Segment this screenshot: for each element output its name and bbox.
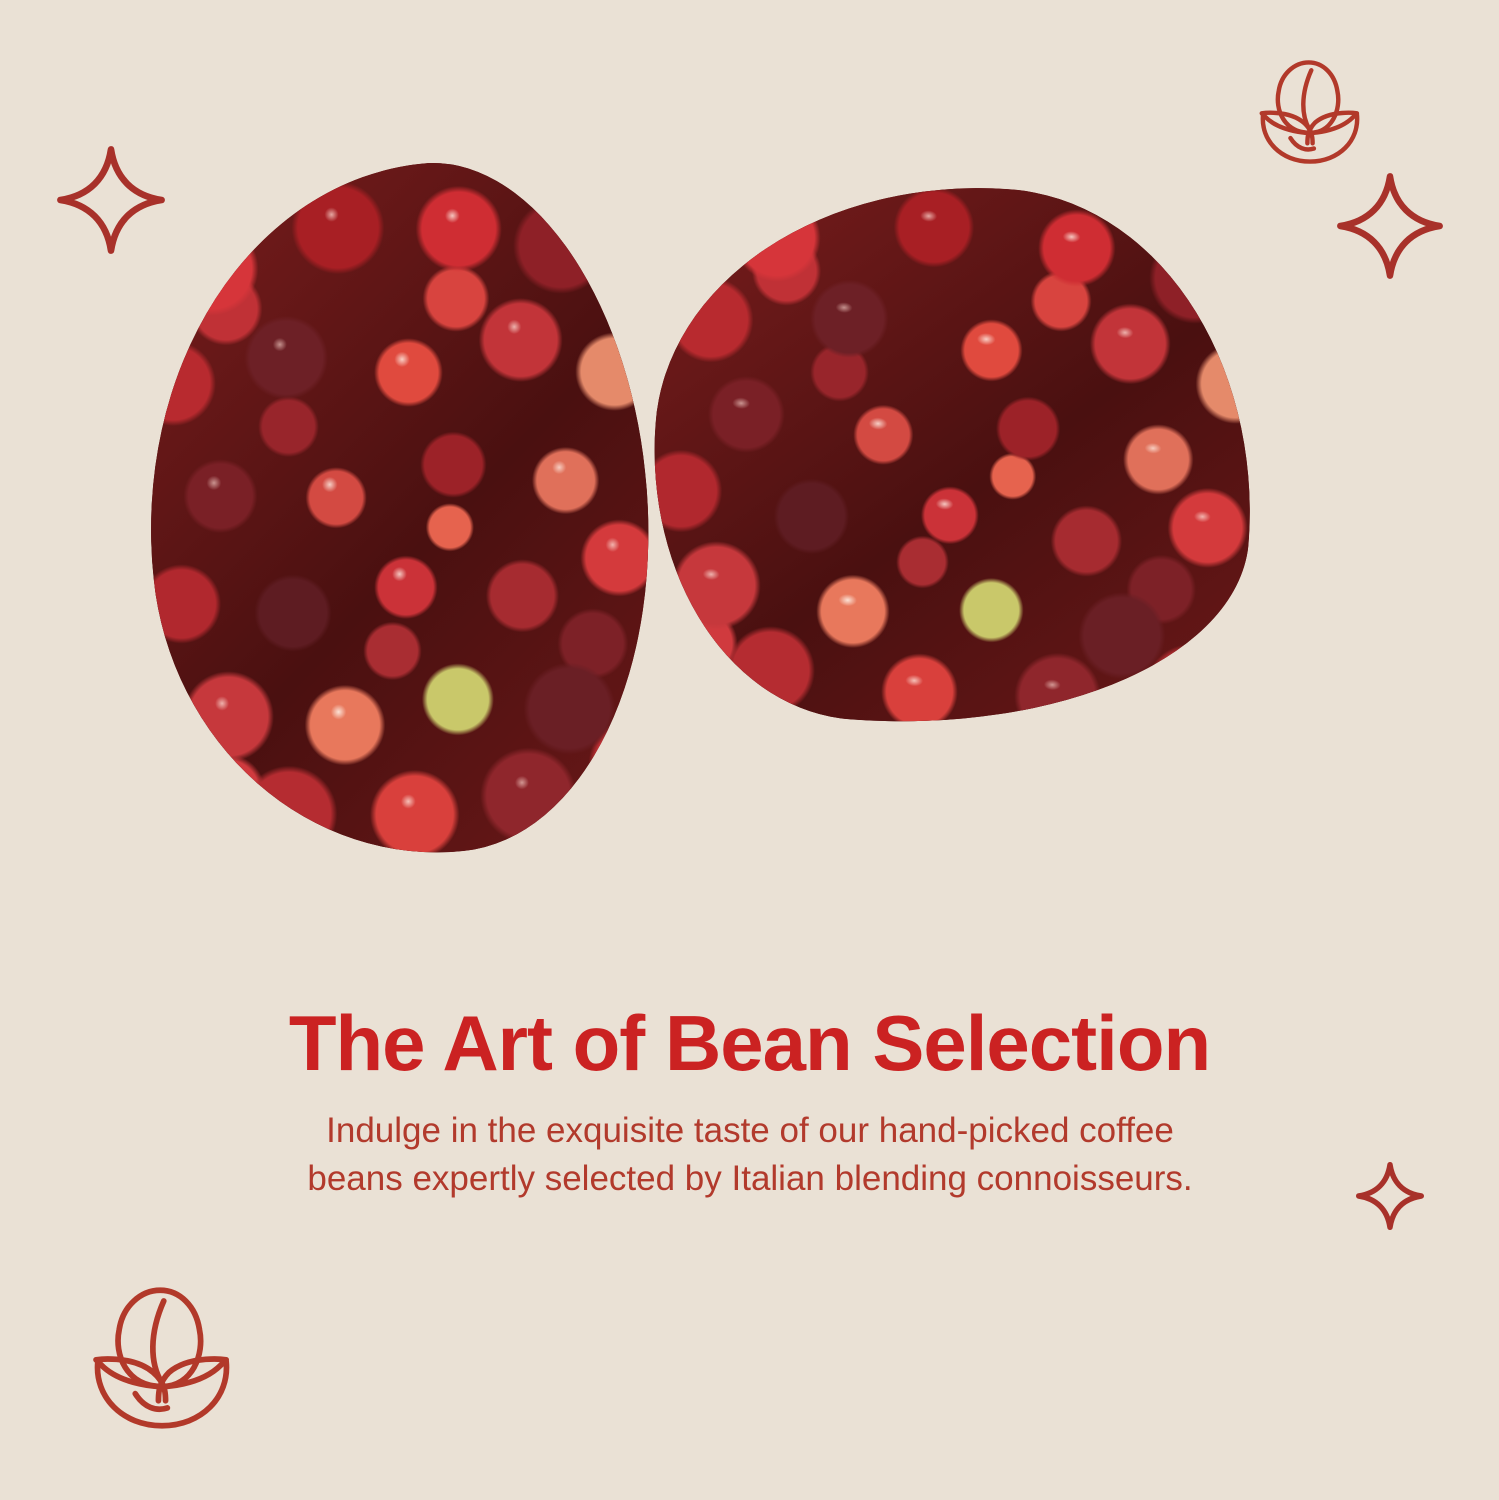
coffee-bean-leaf-icon	[72, 1276, 252, 1440]
subtitle-line-2: beans expertly selected by Italian blend…	[307, 1159, 1192, 1198]
sparkle-icon	[1336, 172, 1444, 280]
sparkle-icon	[1356, 1162, 1424, 1230]
promo-card: The Art of Bean Selection Indulge in the…	[0, 0, 1499, 1500]
coffee-cherry-texture	[113, 144, 682, 880]
page-title: The Art of Bean Selection	[0, 1004, 1499, 1082]
coffee-bean-leaf-icon	[1244, 52, 1376, 172]
subtitle-line-1: Indulge in the exquisite taste of our ha…	[326, 1111, 1174, 1150]
coffee-cherries-left-half	[113, 144, 682, 880]
page-subtitle: Indulge in the exquisite taste of our ha…	[190, 1107, 1310, 1204]
coffee-cherries-right-half	[636, 166, 1272, 747]
coffee-cherry-texture	[636, 166, 1272, 747]
